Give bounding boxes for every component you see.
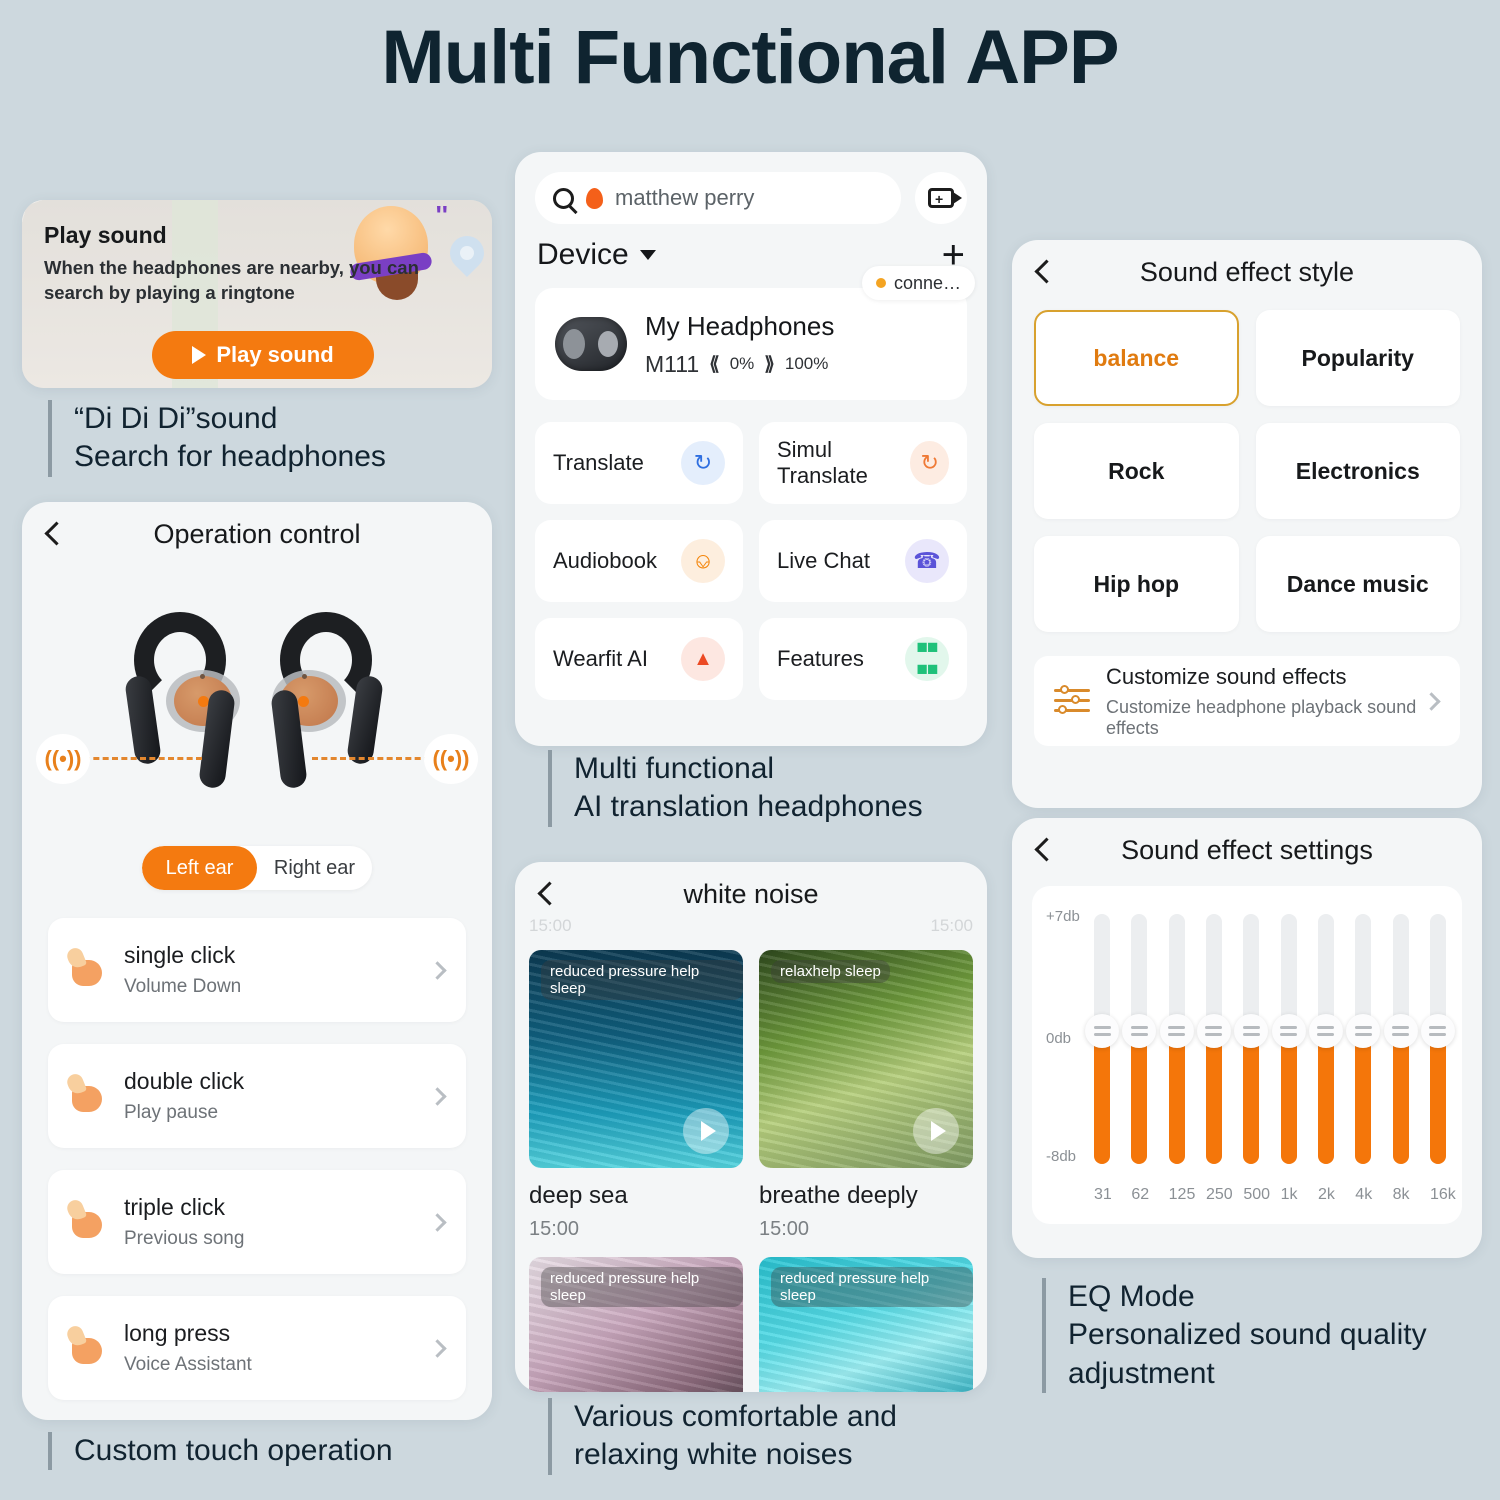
operation-control-caption: Custom touch operation: [48, 1432, 393, 1470]
search-row: matthew perry +: [515, 152, 987, 224]
search-icon: [553, 188, 574, 209]
phone-call-icon: ☎: [905, 539, 949, 583]
eq-slider-fill: [1169, 1031, 1185, 1164]
ear-selector[interactable]: Left ear Right ear: [142, 846, 372, 890]
earbuds-case-thumbnail: [555, 317, 627, 371]
table-row[interactable]: single click Volume Down: [48, 918, 466, 1022]
tile-label: Wearfit AI: [553, 646, 648, 672]
action-value: Play pause: [124, 1102, 244, 1124]
white-noise-title: white noise: [515, 879, 987, 910]
eq-slider-knob[interactable]: [1272, 1014, 1306, 1048]
tile-live-chat[interactable]: Live Chat ☎: [759, 520, 967, 602]
play-sound-card: '' Play sound When the headphones are ne…: [22, 200, 492, 388]
noise-thumbnail[interactable]: reduced pressure help sleep: [529, 1257, 743, 1392]
style-option-hip-hop[interactable]: Hip hop: [1034, 536, 1239, 632]
simul-translate-icon: ↻: [910, 441, 949, 485]
list-item[interactable]: reduced pressure help sleep: [529, 1257, 743, 1392]
style-option-popularity[interactable]: Popularity: [1256, 310, 1461, 406]
chevron-right-icon[interactable]: [428, 961, 446, 979]
device-name: My Headphones: [645, 311, 834, 342]
device-model: M111: [645, 351, 699, 378]
action-name: triple click: [124, 1194, 244, 1221]
left-earbud-icon: ⟪: [709, 353, 720, 376]
style-option-electronics[interactable]: Electronics: [1256, 423, 1461, 519]
operation-control-header: Operation control: [22, 502, 492, 566]
left-battery-value: 0%: [730, 354, 755, 374]
ear-toggle-right[interactable]: Right ear: [257, 846, 372, 890]
add-device-button[interactable]: +: [942, 241, 965, 269]
chevron-right-icon[interactable]: [428, 1339, 446, 1357]
left-signal-line: [84, 757, 202, 760]
search-input-value: matthew perry: [615, 185, 754, 211]
action-name: single click: [124, 942, 241, 969]
tap-hand-icon: [66, 1324, 110, 1372]
status-dot-icon: [876, 278, 886, 288]
status-badge-label: conne…: [894, 273, 961, 294]
noise-tag: reduced pressure help sleep: [771, 1267, 973, 1307]
play-icon[interactable]: [913, 1108, 959, 1154]
action-name: long press: [124, 1320, 252, 1347]
device-list-item[interactable]: conne… My Headphones M111 ⟪ 0% ⟫ 100%: [535, 288, 967, 400]
eq-frequency-label: 250: [1206, 1186, 1222, 1204]
list-item[interactable]: reduced pressure help sleep: [759, 1257, 973, 1392]
eq-slider-500[interactable]: [1243, 914, 1259, 1164]
noise-tag: reduced pressure help sleep: [541, 1267, 743, 1307]
noise-duration: 15:00: [759, 1218, 973, 1241]
eq-slider-16k[interactable]: [1430, 914, 1446, 1164]
customize-sound-effects-row[interactable]: Customize sound effects Customize headph…: [1034, 656, 1460, 746]
noise-tag: relaxhelp sleep: [771, 960, 890, 983]
tile-audiobook[interactable]: Audiobook ⎉: [535, 520, 743, 602]
play-icon[interactable]: [683, 1108, 729, 1154]
tile-label: Features: [777, 646, 864, 672]
eq-frequency-label: 1k: [1281, 1186, 1297, 1204]
tap-hand-icon: [66, 946, 110, 994]
sparkle-icon: '': [436, 200, 448, 231]
right-signal-line: [312, 757, 430, 760]
device-meta: M111 ⟪ 0% ⟫ 100%: [645, 351, 834, 378]
eq-slider-knob[interactable]: [1197, 1014, 1231, 1048]
translate-icon: ↻: [681, 441, 725, 485]
white-noise-grid: reduced pressure help sleep deep sea 15:…: [515, 936, 987, 1392]
eq-slider-fill: [1243, 1031, 1259, 1164]
eq-slider-fill: [1281, 1031, 1297, 1164]
play-sound-title: Play sound: [44, 222, 167, 249]
chevron-down-icon: [640, 250, 656, 260]
noise-tag: reduced pressure help sleep: [541, 960, 743, 1000]
white-noise-card: white noise 15:00 15:00 reduced pressure…: [515, 862, 987, 1392]
eq-slider-knob[interactable]: [1085, 1014, 1119, 1048]
eq-frequency-label: 500: [1243, 1186, 1259, 1204]
tile-label: Live Chat: [777, 548, 870, 574]
noise-duration: 15:00: [529, 1218, 743, 1241]
eq-slider-fill: [1318, 1031, 1334, 1164]
eq-slider-125[interactable]: [1169, 914, 1185, 1164]
customize-title: Customize sound effects: [1106, 664, 1440, 690]
noise-name: breathe deeply: [759, 1182, 973, 1210]
eq-frequency-label: 8k: [1393, 1186, 1409, 1204]
device-panel-card: matthew perry + Device + conne… My Headp…: [515, 152, 987, 746]
play-sound-description: When the headphones are nearby, you can …: [44, 256, 474, 306]
sound-effect-settings-card: Sound effect settings +7db 0db -8db 3162…: [1012, 818, 1482, 1258]
action-value: Previous song: [124, 1228, 244, 1250]
back-icon[interactable]: [1030, 259, 1056, 285]
sound-effect-style-header: Sound effect style: [1012, 240, 1482, 304]
equalizer-chart: +7db 0db -8db 31621252505001k2k4k8k16k: [1032, 886, 1462, 1224]
page-title: Multi Functional APP: [0, 0, 1500, 98]
list-item[interactable]: relaxhelp sleep breathe deeply 15:00: [759, 950, 973, 1241]
back-icon[interactable]: [533, 881, 559, 907]
back-icon[interactable]: [40, 521, 66, 547]
headphone-icon: ⎉: [681, 539, 725, 583]
status-badge: conne…: [862, 266, 975, 300]
eq-slider-fill: [1131, 1031, 1147, 1164]
table-row[interactable]: double click Play pause: [48, 1044, 466, 1148]
eq-slider-31[interactable]: [1094, 914, 1110, 1164]
action-value: Voice Assistant: [124, 1354, 252, 1376]
eq-slider-fill: [1430, 1031, 1446, 1164]
customize-subtitle: Customize headphone playback sound effec…: [1106, 697, 1440, 739]
tile-label: Translate: [553, 450, 644, 476]
right-wave-icon: ((•)): [424, 734, 478, 784]
search-input[interactable]: matthew perry: [535, 172, 901, 224]
device-dropdown[interactable]: Device: [537, 238, 656, 272]
ear-toggle-left[interactable]: Left ear: [142, 846, 257, 890]
tile-label: Simul Translate: [777, 437, 910, 489]
feature-tiles: Translate ↻ Simul Translate ↻ Audiobook …: [515, 400, 987, 700]
earbuds-illustration: ((•)) ((•)): [22, 584, 492, 834]
grid-apps-icon: ■■■■: [905, 637, 949, 681]
eq-slider-fill: [1206, 1031, 1222, 1164]
eq-slider-fill: [1393, 1031, 1409, 1164]
tap-hand-icon: [66, 1198, 110, 1246]
tile-features[interactable]: Features ■■■■: [759, 618, 967, 700]
eq-slider-knob[interactable]: [1309, 1014, 1343, 1048]
white-noise-caption: Various comfortable and relaxing white n…: [548, 1398, 897, 1475]
right-battery-value: 100%: [785, 354, 828, 374]
noise-name: deep sea: [529, 1182, 743, 1210]
video-camera-plus-icon: +: [928, 188, 954, 208]
play-sound-caption: “Di Di Di”sound Search for headphones: [48, 400, 386, 477]
equalizer-sliders-icon: [1054, 685, 1090, 717]
play-sound-button-label: Play sound: [216, 342, 333, 368]
sound-effect-style-card: Sound effect style balance Popularity Ro…: [1012, 240, 1482, 808]
eq-slider-knob[interactable]: [1122, 1014, 1156, 1048]
eq-frequency-label: 31: [1094, 1186, 1110, 1204]
flame-icon: [586, 188, 603, 209]
sound-effect-settings-title: Sound effect settings: [1012, 835, 1482, 866]
tile-simul-translate[interactable]: Simul Translate ↻: [759, 422, 967, 504]
eq-slider-fill: [1094, 1031, 1110, 1164]
eq-slider-4k[interactable]: [1355, 914, 1371, 1164]
add-video-button[interactable]: +: [915, 172, 967, 224]
touch-action-list: single click Volume Down double click Pl…: [22, 918, 492, 1400]
noise-thumbnail[interactable]: reduced pressure help sleep: [759, 1257, 973, 1392]
white-noise-header: white noise: [515, 862, 987, 926]
wearfit-ai-icon: ▲: [681, 637, 725, 681]
eq-frequency-labels: 31621252505001k2k4k8k16k: [1094, 1186, 1446, 1204]
eq-slider-fill: [1355, 1031, 1371, 1164]
eq-frequency-label: 4k: [1355, 1186, 1371, 1204]
sound-effect-settings-header: Sound effect settings: [1012, 818, 1482, 882]
table-row[interactable]: triple click Previous song: [48, 1170, 466, 1274]
back-icon[interactable]: [1030, 837, 1056, 863]
left-earbud: [130, 612, 250, 772]
left-wave-icon: ((•)): [36, 734, 90, 784]
sound-effect-style-title: Sound effect style: [1012, 257, 1482, 288]
tile-label: Audiobook: [553, 548, 657, 574]
eq-slider-knob[interactable]: [1421, 1014, 1455, 1048]
eq-frequency-label: 62: [1131, 1186, 1147, 1204]
eq-axis-max: +7db: [1046, 908, 1080, 925]
eq-slider-knob[interactable]: [1160, 1014, 1194, 1048]
sound-effect-settings-caption: EQ Mode Personalized sound quality adjus…: [1042, 1278, 1427, 1393]
style-option-rock[interactable]: Rock: [1034, 423, 1239, 519]
tap-hand-icon: [66, 1072, 110, 1120]
eq-slider-1k[interactable]: [1281, 914, 1297, 1164]
style-option-balance[interactable]: balance: [1034, 310, 1239, 406]
operation-control-title: Operation control: [22, 519, 492, 550]
tile-translate[interactable]: Translate ↻: [535, 422, 743, 504]
list-item[interactable]: reduced pressure help sleep deep sea 15:…: [529, 950, 743, 1241]
device-section-label: Device: [537, 238, 629, 272]
action-name: double click: [124, 1068, 244, 1095]
style-option-dance-music[interactable]: Dance music: [1256, 536, 1461, 632]
table-row[interactable]: long press Voice Assistant: [48, 1296, 466, 1400]
eq-frequency-label: 2k: [1318, 1186, 1334, 1204]
eq-slider-knob[interactable]: [1346, 1014, 1380, 1048]
chevron-right-icon[interactable]: [428, 1087, 446, 1105]
device-panel-caption: Multi functional AI translation headphon…: [548, 750, 923, 827]
eq-slider-2k[interactable]: [1318, 914, 1334, 1164]
right-earbud-icon: ⟫: [764, 353, 775, 376]
eq-slider-group[interactable]: [1094, 914, 1446, 1164]
right-earbud: [258, 612, 378, 772]
tile-wearfit-ai[interactable]: Wearfit AI ▲: [535, 618, 743, 700]
eq-frequency-label: 125: [1169, 1186, 1185, 1204]
eq-axis-zero: 0db: [1046, 1030, 1071, 1047]
action-value: Volume Down: [124, 976, 241, 998]
noise-thumbnail[interactable]: relaxhelp sleep: [759, 950, 973, 1168]
play-sound-button[interactable]: Play sound: [152, 331, 374, 379]
operation-control-card: Operation control ((•)) ((•)) Left e: [22, 502, 492, 1420]
eq-slider-knob[interactable]: [1234, 1014, 1268, 1048]
chevron-right-icon[interactable]: [428, 1213, 446, 1231]
noise-thumbnail[interactable]: reduced pressure help sleep: [529, 950, 743, 1168]
eq-axis-min: -8db: [1046, 1148, 1076, 1165]
eq-slider-8k[interactable]: [1393, 914, 1409, 1164]
eq-slider-62[interactable]: [1131, 914, 1147, 1164]
eq-slider-knob[interactable]: [1384, 1014, 1418, 1048]
play-icon: [192, 346, 206, 364]
eq-frequency-label: 16k: [1430, 1186, 1446, 1204]
style-grid: balance Popularity Rock Electronics Hip …: [1012, 304, 1482, 632]
eq-slider-250[interactable]: [1206, 914, 1222, 1164]
